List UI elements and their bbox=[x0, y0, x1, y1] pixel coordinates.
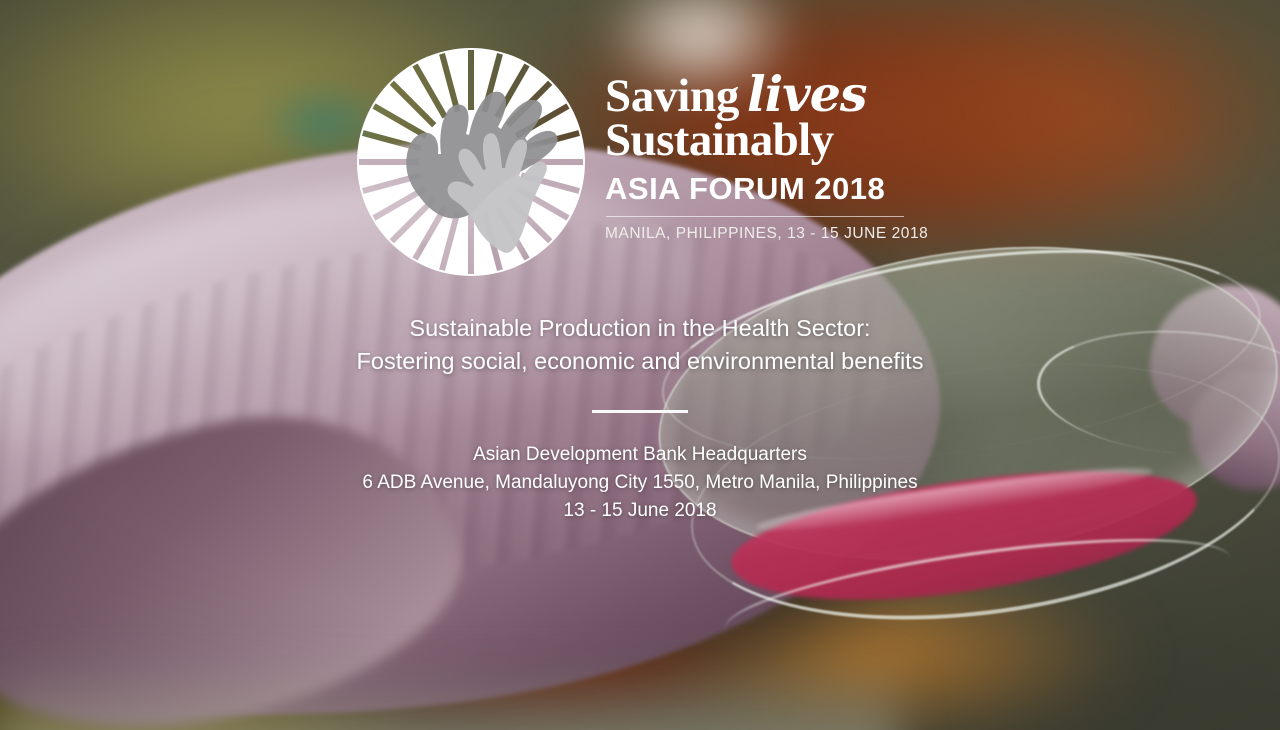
banner-content: Savinglives Sustainably ASIA FORUM 2018 … bbox=[0, 0, 1280, 730]
wordmark-location-dates: MANILA, PHILIPPINES, 13 - 15 JUNE 2018 bbox=[605, 225, 925, 243]
section-divider bbox=[592, 410, 688, 413]
venue-address: 6 ADB Avenue, Mandaluyong City 1550, Met… bbox=[0, 469, 1280, 497]
wordmark-line-saving-lives: Savinglives bbox=[605, 70, 925, 119]
brand-lockup: Savinglives Sustainably ASIA FORUM 2018 … bbox=[0, 46, 1280, 278]
venue-name: Asian Development Bank Headquarters bbox=[0, 441, 1280, 469]
wordmark-asia-forum-2018: ASIA FORUM 2018 bbox=[605, 171, 925, 207]
venue-dates: 13 - 15 June 2018 bbox=[0, 497, 1280, 525]
forum-theme-line-1: Sustainable Production in the Health Sec… bbox=[409, 315, 870, 341]
wordmark-divider-rule bbox=[606, 216, 904, 217]
sunburst-hands-logo-icon bbox=[355, 46, 587, 278]
forum-banner: Savinglives Sustainably ASIA FORUM 2018 … bbox=[0, 0, 1280, 730]
wordmark: Savinglives Sustainably ASIA FORUM 2018 … bbox=[605, 46, 925, 243]
wordmark-sustainably: Sustainably bbox=[605, 117, 925, 165]
venue-block: Asian Development Bank Headquarters 6 AD… bbox=[0, 441, 1280, 525]
forum-theme: Sustainable Production in the Health Sec… bbox=[0, 312, 1280, 379]
forum-theme-line-2: Fostering social, economic and environme… bbox=[0, 345, 1280, 378]
